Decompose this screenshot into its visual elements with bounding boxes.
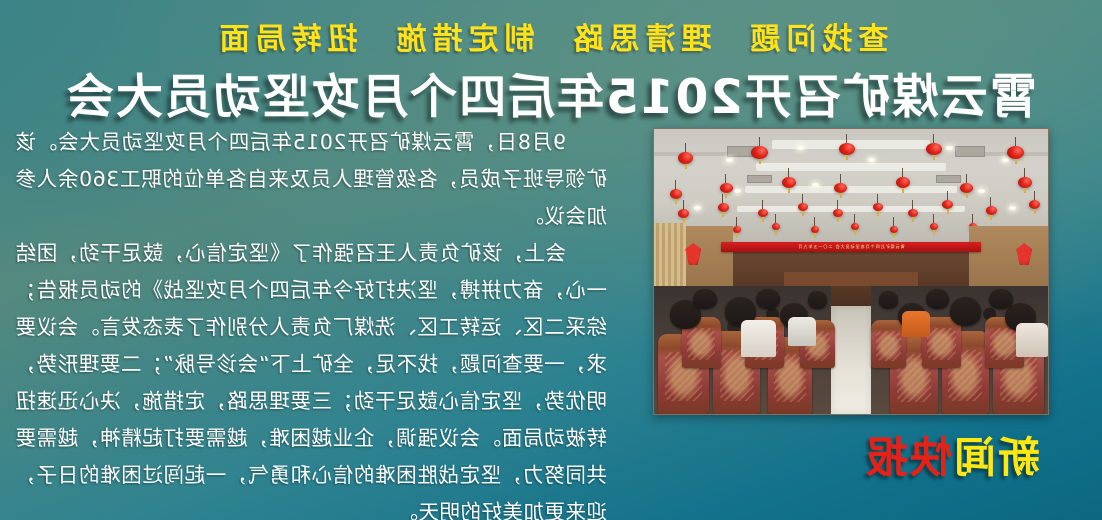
stage-banner: 霄云煤矿后四个月攻坚动员大会 二〇一五年九月 [721,242,981,252]
red-lantern-icon [986,206,997,215]
stage-banner-text: 霄云煤矿后四个月攻坚动员大会 二〇一五年九月 [721,242,981,252]
red-lantern-icon [733,226,741,233]
ceiling-vent [747,175,773,184]
red-lantern-icon [833,209,843,217]
red-lantern-icon [798,203,808,211]
article-paragraph-1: 9月8日，霄云煤矿召开2015年后四个月攻坚动员大会。该矿领导班子成员，各级管理… [15,124,607,235]
head-table [784,272,918,286]
red-lantern-icon [670,189,682,199]
red-lantern-icon [851,223,859,230]
article-body: 9月8日，霄云煤矿召开2015年后四个月攻坚动员大会。该矿领导班子成员，各级管理… [15,124,607,520]
red-lantern-icon [926,143,942,155]
center-aisle [831,306,870,414]
page-title: 霄云煤矿召开2015年后四个月攻坚动员大会 [0,58,1102,127]
red-lantern-icon [718,203,729,212]
logo-part-express: 快报 [864,433,952,482]
red-lantern-icon [720,183,733,193]
ceiling-vent [936,175,962,184]
ceiling-vent [955,146,985,157]
news-bulletin-page: 查找问题 理清思路 制定措施 扭转局面 霄云煤矿召开2015年后四个月攻坚动员大… [0,0,1102,520]
page-subtitle: 查找问题 理清思路 制定措施 扭转局面 [0,14,1102,58]
article-paragraph-2: 会上，该矿负责人王召强作了《坚定信心，鼓足干劲，团结一心，奋力拼搏，坚决打好今年… [15,235,607,520]
conference-photo-scene: 霄云煤矿后四个月攻坚动员大会 二〇一五年九月 [654,129,1048,414]
mirrored-composition: 查找问题 理清思路 制定措施 扭转局面 霄云煤矿召开2015年后四个月攻坚动员大… [0,0,1102,520]
red-lantern-icon [873,203,883,211]
logo-part-news: 新闻 [952,433,1040,482]
news-bulletin-logo: 新闻快报 [864,424,1040,485]
conference-photo: 霄云煤矿后四个月攻坚动员大会 二〇一五年九月 [653,128,1049,415]
red-lantern-icon [758,209,768,217]
red-lantern-icon [908,209,918,217]
red-lantern-icon [930,223,938,230]
